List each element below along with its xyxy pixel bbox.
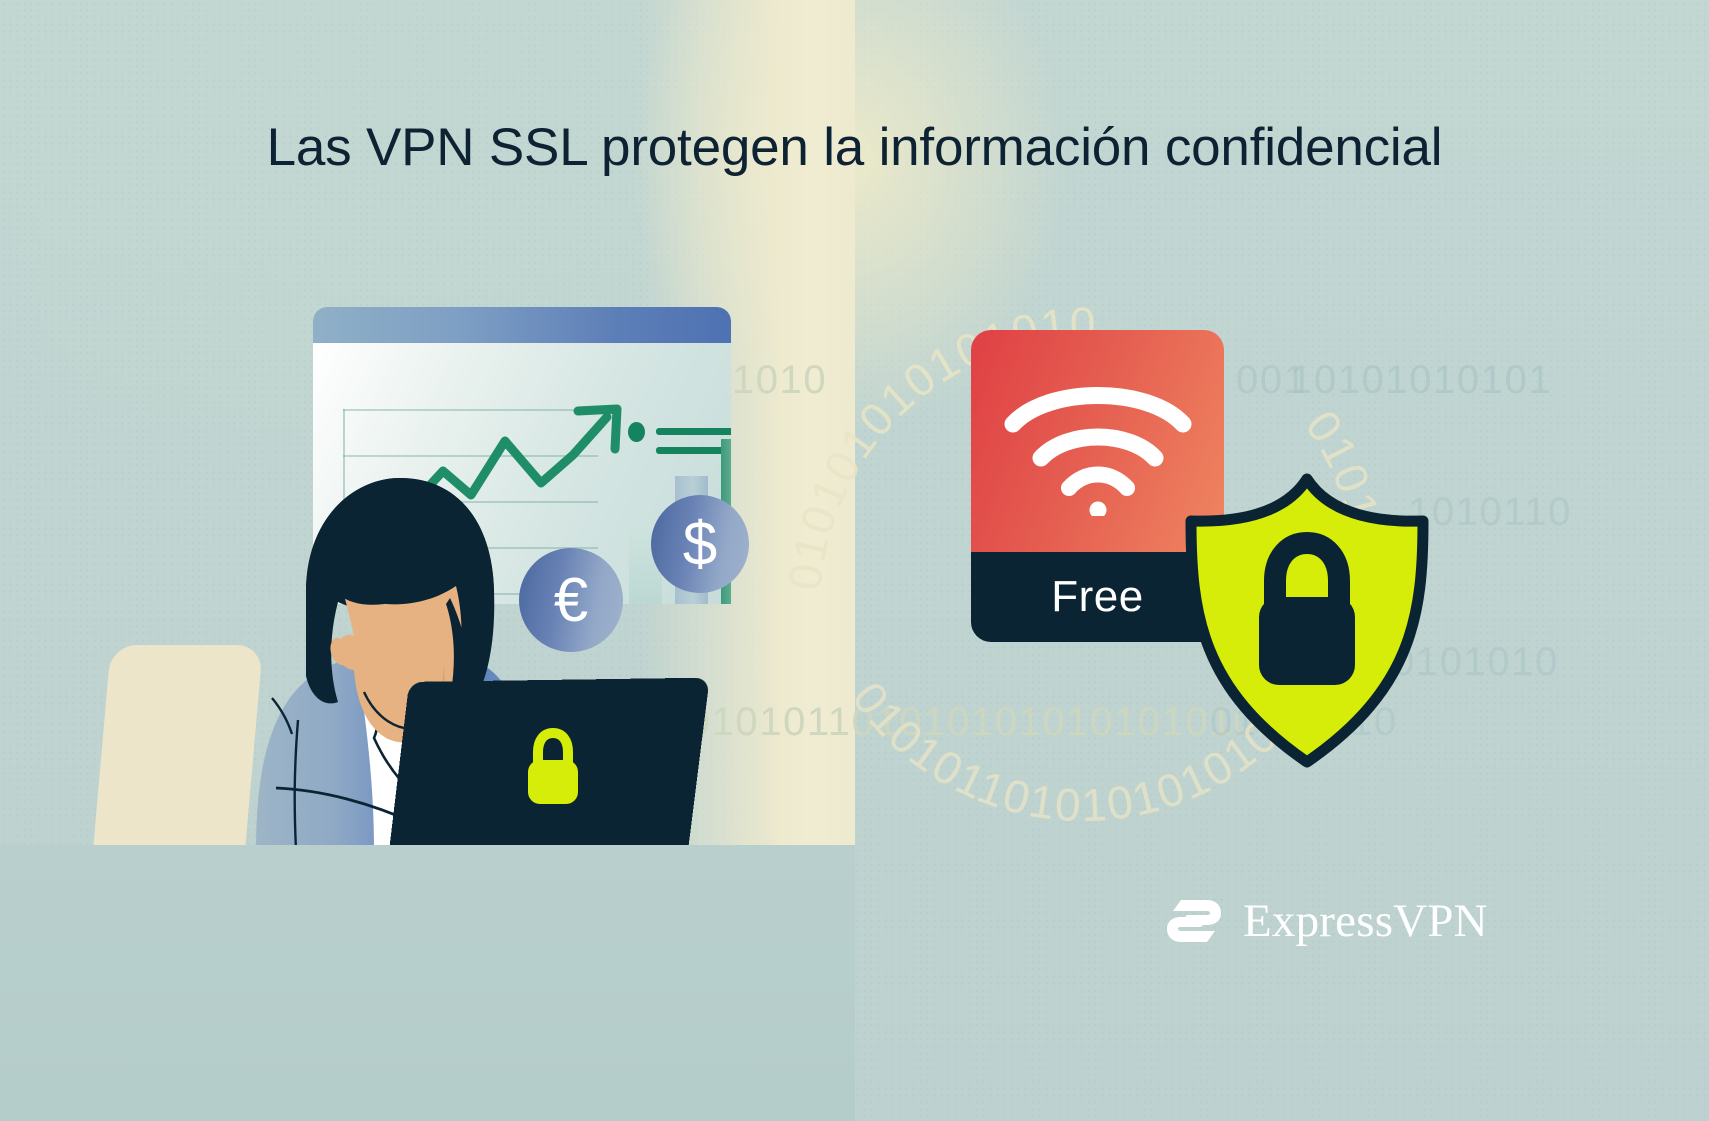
dollar-coin-icon: $: [651, 495, 749, 593]
security-shield: [1185, 473, 1430, 768]
poster-canvas: 01010 001 10101010101 1010110 0101010 01…: [0, 0, 1709, 1121]
dollar-symbol: $: [683, 509, 717, 580]
page-title: Las VPN SSL protegen la información conf…: [0, 118, 1709, 179]
expressvpn-e-icon: [1163, 890, 1225, 952]
padlock-icon: [520, 728, 586, 808]
illustration-woman-at-laptop: € $: [60, 280, 780, 845]
wifi-network-label: Free: [1051, 572, 1143, 622]
shield-icon: [1185, 473, 1430, 768]
laptop: [395, 680, 695, 855]
expressvpn-wordmark: ExpressVPN: [1243, 898, 1488, 945]
binary-decor-text: 1010110: [1408, 490, 1572, 535]
wifi-icon: [1003, 376, 1193, 516]
desk-surface: [0, 845, 855, 1121]
expressvpn-logo[interactable]: ExpressVPN: [1163, 890, 1488, 952]
screen-titlebar: [313, 307, 731, 343]
